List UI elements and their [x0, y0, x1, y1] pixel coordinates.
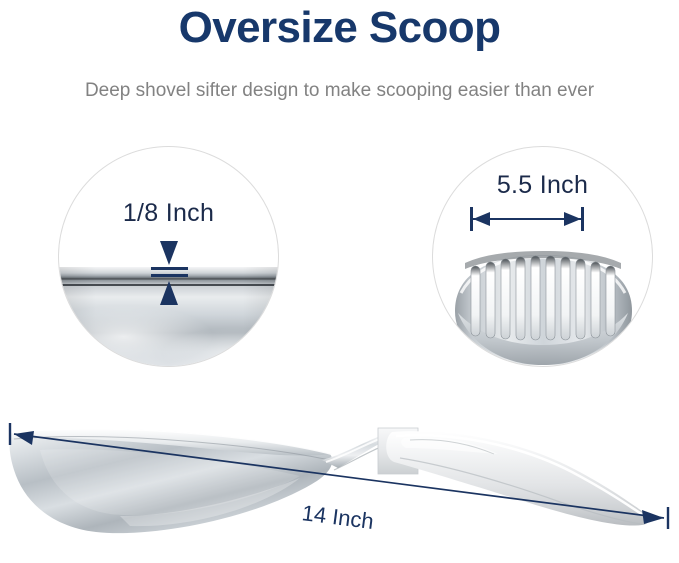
product-illustration [0, 398, 679, 563]
infographic-canvas: Oversize Scoop Deep shovel sifter design… [0, 0, 679, 563]
width-arrow-right-head-icon [564, 212, 581, 226]
thickness-arrow-down-icon [160, 241, 178, 265]
thickness-gap-bar-top [151, 267, 188, 270]
page-title: Oversize Scoop [0, 2, 679, 54]
callout-width: 5.5 Inch [432, 146, 653, 367]
width-endcap-right [581, 207, 584, 231]
page-subtitle: Deep shovel sifter design to make scoopi… [0, 78, 679, 104]
thickness-arrow-up-icon [160, 281, 178, 305]
callout-label-thickness: 1/8 Inch [59, 199, 278, 228]
callout-label-width: 5.5 Inch [433, 171, 652, 200]
width-arrow-left-head-icon [473, 212, 490, 226]
sifter-head-illustration [447, 249, 640, 367]
callout-thickness: 1/8 Inch [58, 146, 279, 367]
thickness-gap-bar-bottom [151, 274, 188, 277]
